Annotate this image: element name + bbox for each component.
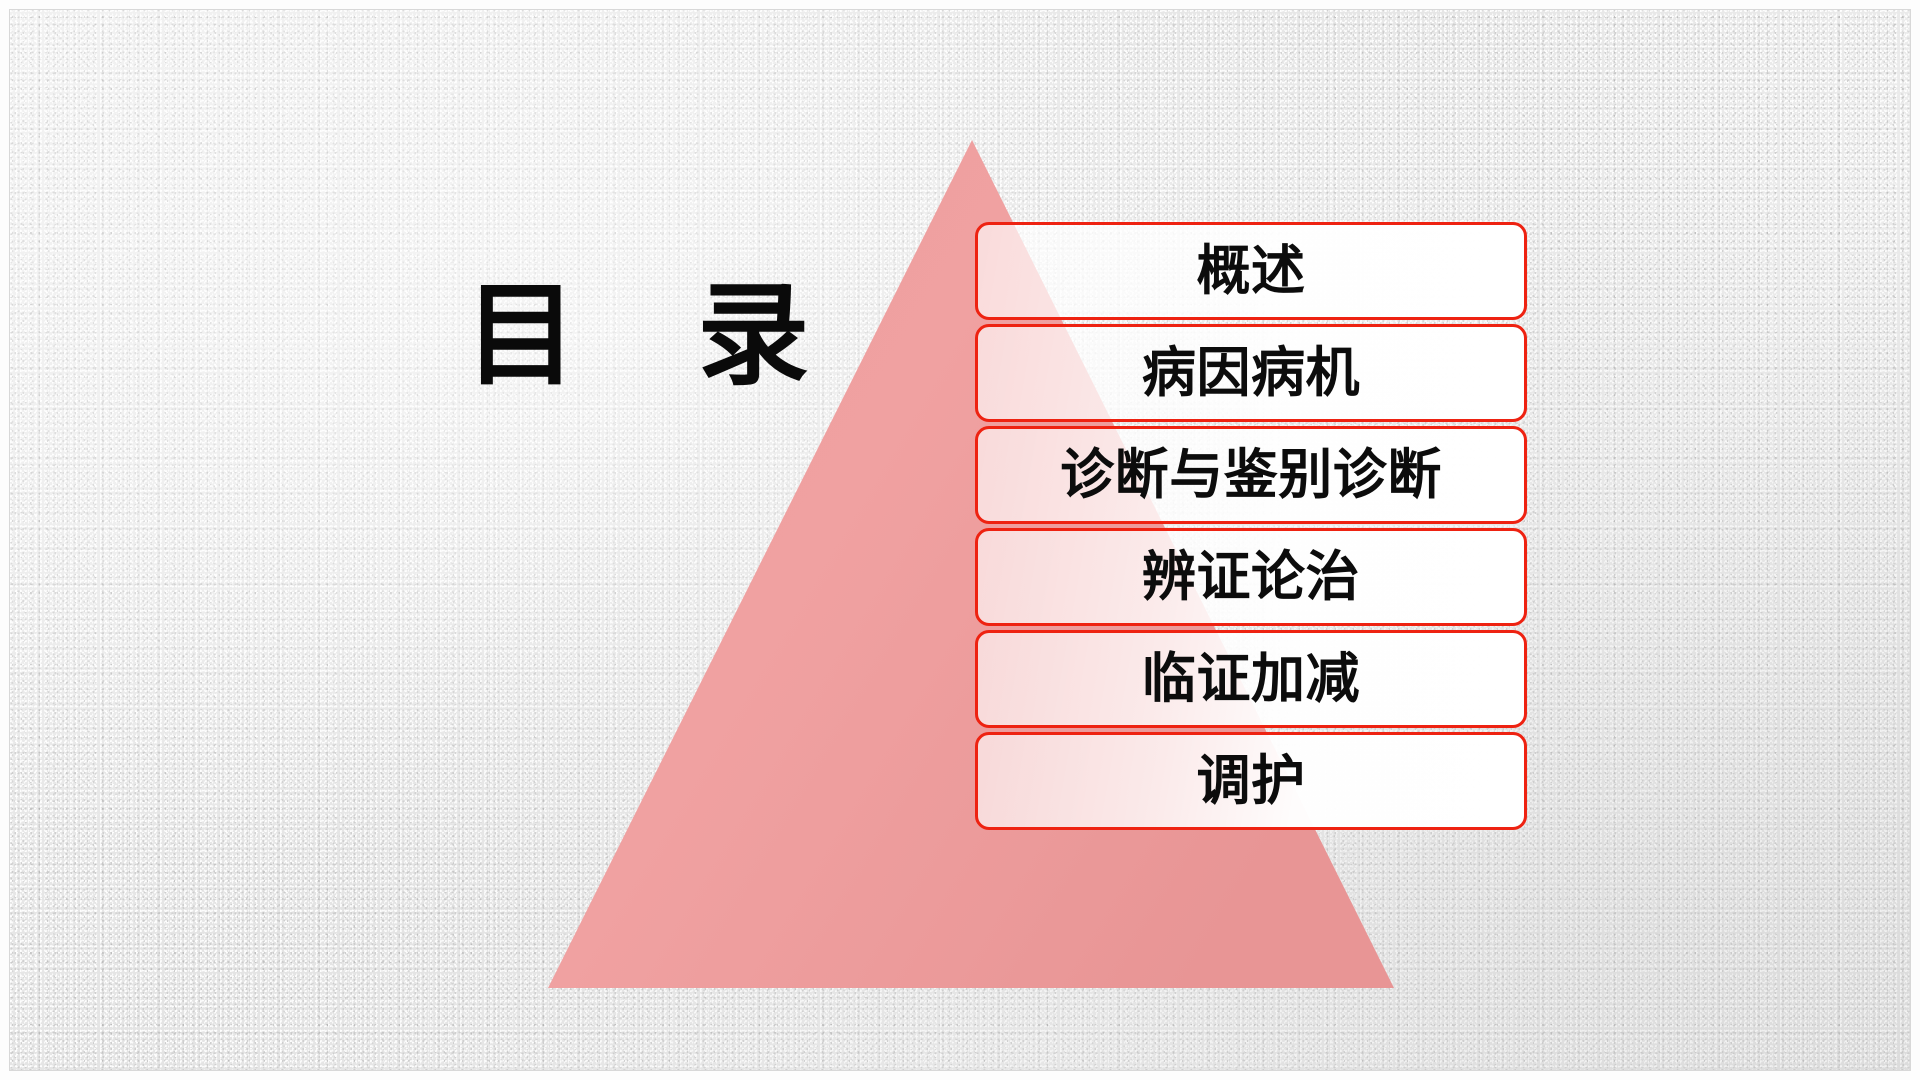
toc-item-4[interactable]: 辨证论治	[975, 528, 1527, 626]
toc-item-2[interactable]: 病因病机	[975, 324, 1527, 422]
toc-item-label: 辨证论治	[1142, 550, 1360, 604]
toc-item-label: 概述	[1196, 244, 1305, 298]
toc-item-label: 临证加减	[1142, 652, 1360, 706]
page-title-char-2: 录	[697, 271, 811, 401]
toc-item-label: 病因病机	[1142, 346, 1360, 400]
toc-item-6[interactable]: 调护	[975, 732, 1527, 830]
page-title-char-1: 目	[465, 271, 579, 401]
toc-item-5[interactable]: 临证加减	[975, 630, 1527, 728]
table-of-contents-list: 概述 病因病机 诊断与鉴别诊断 辨证论治 临证加减 调护	[975, 222, 1527, 830]
toc-item-label: 诊断与鉴别诊断	[1060, 448, 1442, 502]
page-title: 目录	[300, 168, 811, 504]
toc-item-3[interactable]: 诊断与鉴别诊断	[975, 426, 1527, 524]
presentation-slide: 目录 概述 病因病机 诊断与鉴别诊断 辨证论治 临证加减 调护	[0, 0, 1920, 1080]
toc-item-1[interactable]: 概述	[975, 222, 1527, 320]
toc-item-label: 调护	[1196, 754, 1305, 808]
